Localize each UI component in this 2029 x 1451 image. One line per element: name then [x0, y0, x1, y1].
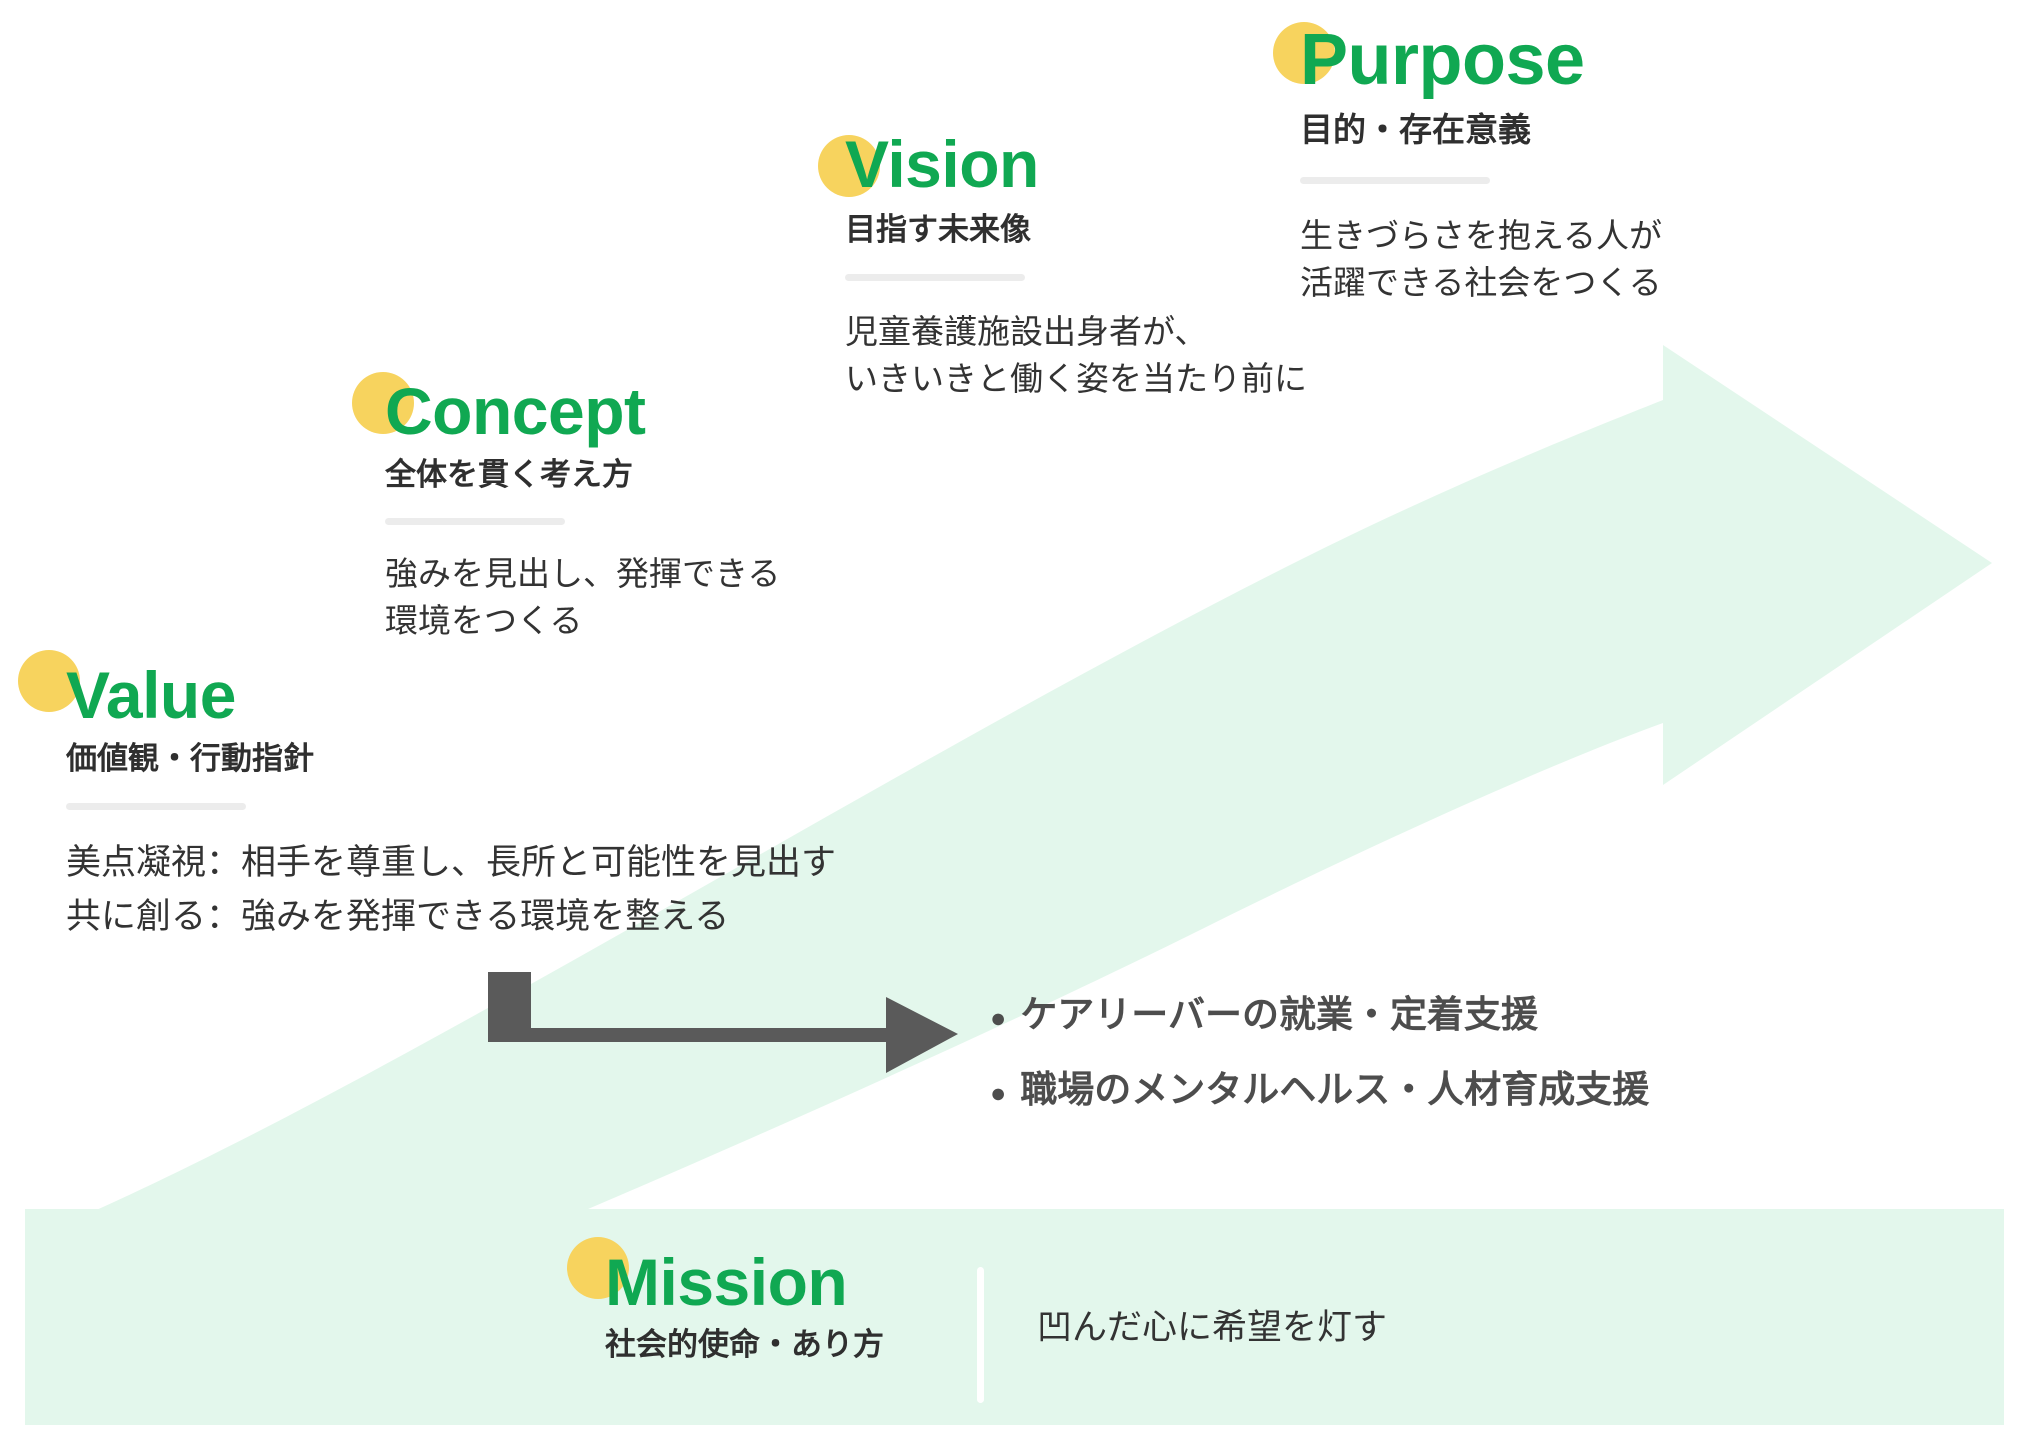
pillar-concept-title: Concept	[385, 378, 780, 444]
pillar-purpose-title: Purpose	[1300, 24, 1662, 96]
pillar-concept-description: 強みを見出し、発揮できる 環境をつくる	[385, 551, 780, 645]
pillar-vision: Vision 目指す未来像 児童養護施設出身者が、 いきいきと働く姿を当たり前に	[845, 131, 1307, 403]
pillar-purpose-subtitle: 目的・存在意義	[1300, 113, 1662, 146]
pillar-purpose: Purpose 目的・存在意義 生きづらさを抱える人が 活躍できる社会をつくる	[1300, 24, 1662, 307]
list-item-label: ケアリーバーの就業・定着支援	[1020, 996, 1538, 1033]
mission-vertical-divider	[977, 1267, 984, 1403]
pillar-value-description: 美点凝視：相手を尊重し、長所と可能性を見出す 共に創る：強みを発揮できる環境を整…	[66, 836, 836, 945]
pillar-concept-head: Concept	[385, 378, 780, 444]
pillar-concept-subtitle: 全体を貫く考え方	[385, 459, 780, 490]
pillar-value-subtitle: 価値観・行動指針	[66, 743, 836, 774]
pillar-value-head: Value	[66, 662, 836, 728]
list-item: ● ケアリーバーの就業・定着支援	[990, 996, 1649, 1033]
pillar-value-title: Value	[66, 662, 836, 728]
pillar-purpose-divider	[1300, 177, 1490, 184]
pillar-vision-subtitle: 目指す未来像	[845, 214, 1307, 245]
mission-statement: 凹んだ心に希望を灯す	[1037, 1303, 1387, 1352]
pillar-purpose-head: Purpose	[1300, 24, 1662, 96]
pillar-value: Value 価値観・行動指針 美点凝視：相手を尊重し、長所と可能性を見出す 共に…	[66, 662, 836, 945]
pillar-vision-description: 児童養護施設出身者が、 いきいきと働く姿を当たり前に	[845, 309, 1307, 403]
pillar-mission-subtitle: 社会的使命・あり方	[605, 1329, 884, 1360]
bullet-dot-icon: ●	[990, 1080, 1006, 1107]
pillar-vision-title: Vision	[845, 131, 1307, 197]
vision-diagram-canvas: Purpose 目的・存在意義 生きづらさを抱える人が 活躍できる社会をつくる …	[0, 0, 2029, 1451]
pillar-vision-head: Vision	[845, 131, 1307, 197]
pillar-mission-head: Mission	[605, 1249, 884, 1315]
pillar-mission: Mission 社会的使命・あり方	[605, 1249, 884, 1360]
pillar-purpose-description: 生きづらさを抱える人が 活躍できる社会をつくる	[1300, 213, 1662, 307]
mission-band	[25, 1209, 2004, 1425]
pillar-value-divider	[66, 803, 246, 810]
pillar-concept-divider	[385, 518, 565, 525]
pillar-vision-divider	[845, 274, 1025, 281]
list-item-label: 職場のメンタルヘルス・人材育成支援	[1020, 1071, 1649, 1108]
bullet-dot-icon: ●	[990, 1005, 1006, 1032]
action-bullet-list: ● ケアリーバーの就業・定着支援 ● 職場のメンタルヘルス・人材育成支援	[990, 996, 1649, 1108]
pillar-mission-title: Mission	[605, 1249, 884, 1315]
pillar-concept: Concept 全体を貫く考え方 強みを見出し、発揮できる 環境をつくる	[385, 378, 780, 645]
action-arrow-icon	[488, 972, 958, 1090]
list-item: ● 職場のメンタルヘルス・人材育成支援	[990, 1071, 1649, 1108]
